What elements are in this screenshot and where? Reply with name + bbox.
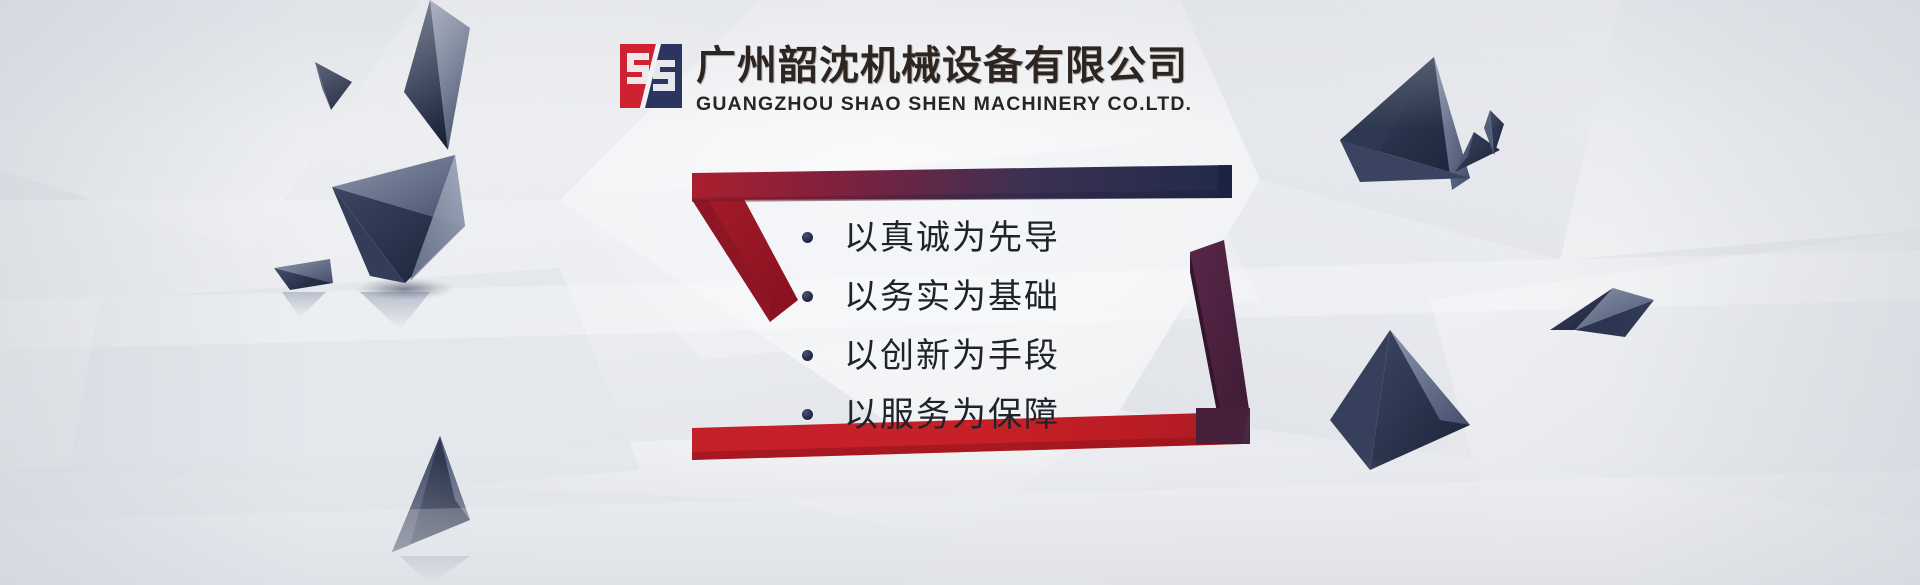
company-logo-icon — [620, 40, 682, 112]
slogan-item: 以务实为基础 — [802, 267, 1060, 326]
bullet-point-icon — [802, 291, 813, 302]
bullet-point-icon — [802, 409, 813, 420]
bullet-point-icon — [802, 350, 813, 361]
slogan-text: 以真诚为先导 — [844, 218, 1060, 258]
company-name-group: 广州韶沈机械设备有限公司 GUANGZHOU SHAO SHEN MACHINE… — [696, 40, 1192, 116]
bullet-point-icon — [802, 232, 813, 243]
company-banner: 广州韶沈机械设备有限公司 GUANGZHOU SHAO SHEN MACHINE… — [0, 0, 1920, 585]
slogan-panel: 以真诚为先导 以务实为基础 以创新为手段 以服务为保障 — [690, 160, 1250, 535]
slogan-text: 以务实为基础 — [844, 277, 1060, 317]
slogan-item: 以创新为手段 — [802, 326, 1060, 385]
slogan-text: 以创新为手段 — [844, 336, 1060, 376]
company-name-en: GUANGZHOU SHAO SHEN MACHINERY CO.LTD. — [696, 92, 1192, 116]
brand-lockup: 广州韶沈机械设备有限公司 GUANGZHOU SHAO SHEN MACHINE… — [620, 40, 1192, 116]
slogan-item: 以服务为保障 — [802, 385, 1060, 444]
slogan-item: 以真诚为先导 — [802, 208, 1060, 267]
slogan-text: 以服务为保障 — [844, 395, 1060, 435]
slogan-list: 以真诚为先导 以务实为基础 以创新为手段 以服务为保障 — [802, 208, 1060, 444]
company-name-cn: 广州韶沈机械设备有限公司 — [696, 43, 1192, 89]
